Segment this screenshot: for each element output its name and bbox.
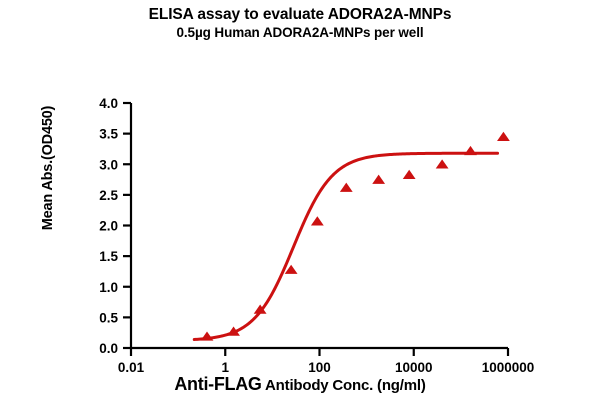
- plot-area: 0.00.51.01.52.02.53.03.54.0 0.0111001000…: [0, 0, 600, 400]
- data-point-marker: [372, 175, 385, 184]
- y-tick-label: 2.0: [99, 219, 118, 234]
- y-tick-label: 0.5: [99, 310, 118, 325]
- x-axis-ticks: 0.011100100001000000: [118, 348, 534, 375]
- data-point-markers: [201, 132, 510, 341]
- y-tick-label: 3.0: [99, 157, 118, 172]
- data-point-marker: [436, 159, 449, 168]
- elisa-chart-figure: ELISA assay to evaluate ADORA2A-MNPs 0.5…: [0, 0, 600, 400]
- y-axis-ticks: 0.00.51.01.52.02.53.03.54.0: [99, 96, 131, 356]
- data-point-marker: [340, 183, 353, 192]
- data-point-marker: [201, 331, 214, 340]
- y-tick-label: 2.5: [99, 188, 118, 203]
- x-tick-label: 1000000: [482, 360, 535, 375]
- x-tick-label: 100: [308, 360, 331, 375]
- data-point-marker: [311, 216, 324, 225]
- x-tick-label: 1: [221, 360, 229, 375]
- y-tick-label: 4.0: [99, 96, 118, 111]
- sigmoid-fit-curve: [194, 153, 497, 339]
- data-point-marker: [464, 146, 477, 155]
- data-point-marker: [497, 132, 510, 141]
- y-tick-label: 1.5: [99, 249, 118, 264]
- y-tick-label: 1.0: [99, 280, 118, 295]
- y-tick-label: 0.0: [99, 341, 118, 356]
- y-tick-label: 3.5: [99, 127, 118, 142]
- x-tick-label: 10000: [395, 360, 433, 375]
- data-point-marker: [403, 170, 416, 179]
- x-tick-label: 0.01: [118, 360, 145, 375]
